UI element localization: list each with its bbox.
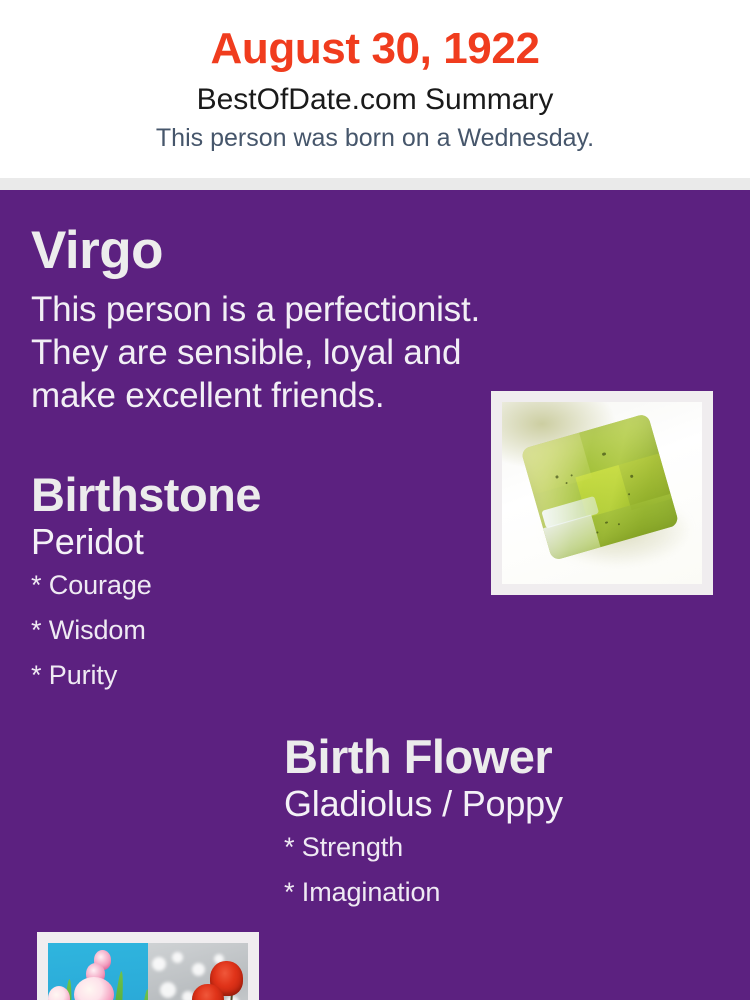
page-title: August 30, 1922	[0, 22, 750, 76]
birthstone-heading: Birthstone	[31, 468, 461, 521]
zodiac-sign-name: Virgo	[31, 222, 671, 280]
birth-flower-section: Birth Flower Gladiolus / Poppy * Strengt…	[0, 730, 750, 990]
birth-flower-text-block: Birth Flower Gladiolus / Poppy * Strengt…	[284, 730, 724, 915]
birth-flower-heading: Birth Flower	[284, 730, 724, 783]
birthstone-image-frame	[491, 391, 713, 595]
zodiac-section: Virgo This person is a perfectionist. Th…	[31, 222, 671, 417]
birthstone-image	[502, 402, 702, 584]
birthstone-trait: * Wisdom	[31, 608, 461, 653]
page-header: August 30, 1922 BestOfDate.com Summary T…	[0, 0, 750, 178]
header-divider	[0, 178, 750, 190]
birthstone-text-block: Birthstone Peridot * Courage * Wisdom * …	[31, 468, 461, 698]
birthstone-trait: * Purity	[31, 653, 461, 698]
site-subtitle: BestOfDate.com Summary	[0, 80, 750, 120]
birth-flower-trait: * Strength	[284, 825, 724, 870]
day-of-week-line: This person was born on a Wednesday.	[0, 121, 750, 155]
birth-flower-trait: * Imagination	[284, 870, 724, 915]
zodiac-description-line: This person is a perfectionist.	[31, 288, 671, 331]
birthstone-name: Peridot	[31, 521, 461, 563]
birth-flower-name: Gladiolus / Poppy	[284, 783, 724, 825]
summary-panel: Virgo This person is a perfectionist. Th…	[0, 190, 750, 1000]
zodiac-description-line: They are sensible, loyal and	[31, 331, 671, 374]
birthstone-trait: * Courage	[31, 563, 461, 608]
